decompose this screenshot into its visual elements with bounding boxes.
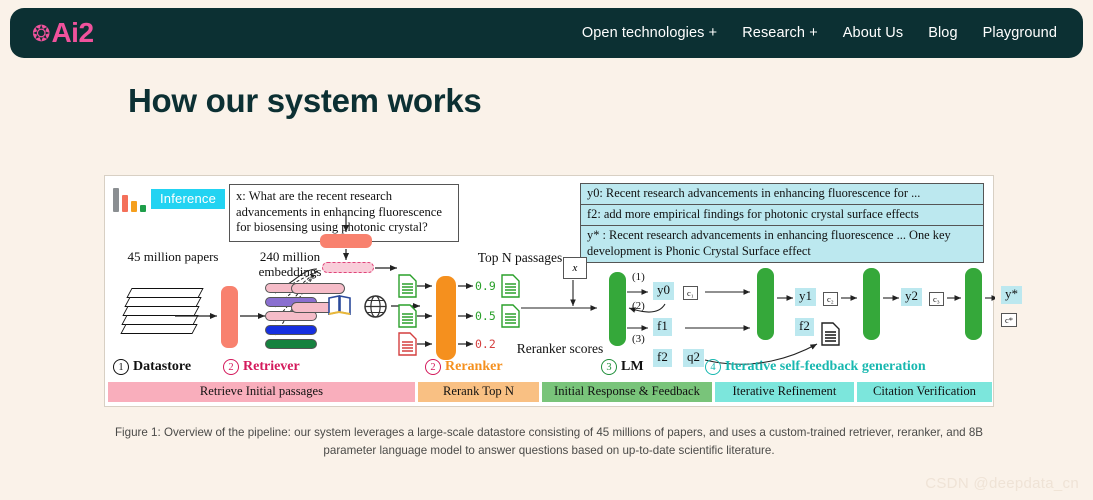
page-title: How our system works xyxy=(128,82,1093,120)
retriever-bar xyxy=(221,286,238,348)
lm-bar xyxy=(863,268,880,340)
evidence-doc-icon xyxy=(821,322,840,346)
nav-research[interactable]: Research + xyxy=(742,25,818,41)
nav-playground[interactable]: Playground xyxy=(983,25,1057,41)
query-embedding-pill xyxy=(322,262,374,273)
legend-initial-response-feedback: Initial Response & Feedback xyxy=(542,382,712,402)
token-f2-second: f2 xyxy=(795,318,814,336)
stage-lm: 3 LM xyxy=(601,359,644,375)
main-nav: Open technologies + Research + About Us … xyxy=(582,25,1057,41)
stage-retriever: 2 Retriever xyxy=(223,359,300,375)
lm-bar xyxy=(609,272,626,346)
reranker-score: 0.9 xyxy=(475,279,496,293)
nav-about-us[interactable]: About Us xyxy=(843,25,903,41)
embedding-pill xyxy=(265,339,317,349)
legend-retrieve-initial-passages: Retrieve Initial passages xyxy=(108,382,415,402)
book-icon xyxy=(327,294,353,318)
header-container: ❂ Ai2 Open technologies + Research + Abo… xyxy=(0,0,1093,58)
stage-iterative-feedback: 4 Iterative self-feedback generation xyxy=(705,359,926,375)
stage-label: Reranker xyxy=(445,359,503,375)
stage-label: LM xyxy=(621,359,644,375)
query-encoder-bar xyxy=(320,234,372,248)
legend-citation-verification: Citation Verification xyxy=(857,382,992,402)
token-y0: y0 xyxy=(653,282,674,300)
pipeline-figure: Inference x: What are the recent researc… xyxy=(104,175,994,407)
stage-label: Retriever xyxy=(243,359,300,375)
legend-rerank-top-n: Rerank Top N xyxy=(418,382,539,402)
globe-icon xyxy=(363,294,388,319)
token-f2: f2 xyxy=(653,349,672,367)
citation-box-c1: c₁ xyxy=(683,286,698,300)
step-number-1: (1) xyxy=(632,271,645,283)
passage-doc-icon xyxy=(398,274,417,298)
stage-number-icon: 2 xyxy=(223,359,239,375)
citation-box-c2: c₂ xyxy=(823,292,838,306)
stage-number-icon: 4 xyxy=(705,359,721,375)
logo[interactable]: ❂ Ai2 xyxy=(32,19,94,47)
x-query-token-box: x xyxy=(563,257,587,279)
watermark: CSDN @deepdata_cn xyxy=(925,475,1079,492)
legend-iterative-refinement: Iterative Refinement xyxy=(715,382,854,402)
stage-label: Iterative self-feedback generation xyxy=(725,359,926,375)
reranker-score: 0.2 xyxy=(475,337,496,351)
token-y1: y1 xyxy=(795,288,816,306)
token-f1: f1 xyxy=(653,318,672,336)
stage-number-icon: 3 xyxy=(601,359,617,375)
passage-doc-icon xyxy=(398,304,417,328)
token-y2: y2 xyxy=(901,288,922,306)
reranker-score: 0.5 xyxy=(475,309,496,323)
citation-box-c3: c₃ xyxy=(929,292,944,306)
stage-number-icon: 1 xyxy=(113,359,129,375)
reranker-bar xyxy=(436,276,456,360)
stage-reranker: 2 Reranker xyxy=(425,359,503,375)
embedding-pill xyxy=(265,325,317,335)
figure-caption: Figure 1: Overview of the pipeline: our … xyxy=(104,424,994,460)
pipeline-legend: Retrieve Initial passages Rerank Top N I… xyxy=(108,382,992,402)
nav-open-technologies[interactable]: Open technologies + xyxy=(582,25,717,41)
site-header: ❂ Ai2 Open technologies + Research + Abo… xyxy=(10,8,1083,58)
lm-bar xyxy=(965,268,982,340)
top-passage-doc-icon xyxy=(501,304,520,328)
stage-datastore: 1 Datastore xyxy=(113,359,191,375)
stage-label: Datastore xyxy=(133,359,191,375)
passage-doc-icon xyxy=(398,332,417,356)
token-q2: q2 xyxy=(683,349,704,367)
nav-blog[interactable]: Blog xyxy=(928,25,957,41)
step-number-3: (3) xyxy=(632,333,645,345)
logo-text: Ai2 xyxy=(51,19,93,47)
token-y-star: y* xyxy=(1001,286,1022,304)
stage-number-icon: 2 xyxy=(425,359,441,375)
step-number-2: (2) xyxy=(632,300,645,312)
retrieved-pill xyxy=(291,283,345,294)
top-passage-doc-icon xyxy=(501,274,520,298)
lm-bar xyxy=(757,268,774,340)
citation-box-c-star: c* xyxy=(1001,313,1017,327)
flower-icon: ❂ xyxy=(32,23,50,45)
